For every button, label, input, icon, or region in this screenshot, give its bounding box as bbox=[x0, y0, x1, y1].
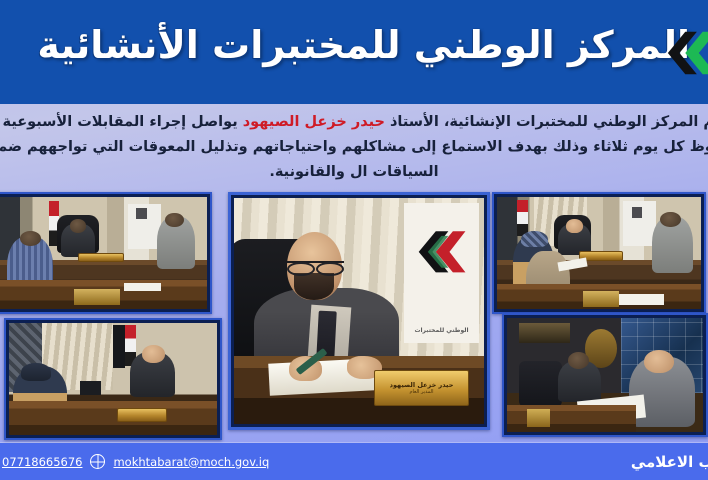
page-title: المركز الوطني للمختبرات الأنشائية bbox=[90, 22, 690, 70]
eyeglasses bbox=[287, 261, 345, 272]
iraqi-flag bbox=[517, 200, 527, 236]
email-address[interactable]: mokhtabarat@moch.gov.iq bbox=[113, 455, 269, 469]
phone-number[interactable]: 07718665676 bbox=[2, 455, 82, 469]
beard bbox=[294, 273, 334, 300]
desk-ornament bbox=[527, 409, 551, 427]
flag-caption: الوطني للمختبرات bbox=[407, 327, 476, 334]
nameplate bbox=[78, 253, 124, 262]
photo-center-main: الوطني للمختبرات حيدر خزعل الصيهود المدي… bbox=[228, 192, 490, 430]
footer-bar: 07718665676 mokhtabarat@moch.gov.iq المك… bbox=[0, 443, 708, 480]
moch-chevron-logo-icon bbox=[413, 214, 470, 290]
photo-center-scene: الوطني للمختبرات حيدر خزعل الصيهود المدي… bbox=[234, 198, 484, 424]
photo-bottom-left bbox=[4, 318, 222, 440]
announcement-line1-before: عام المركز الوطني للمختبرات الإنشائية، ا… bbox=[385, 114, 708, 130]
papers bbox=[619, 294, 664, 304]
papers bbox=[124, 283, 161, 291]
wall-decor bbox=[519, 323, 570, 344]
nameplate-name: حيدر خزعل الصيهود bbox=[390, 381, 454, 389]
media-office-label: المكتب الاعلامي bbox=[631, 453, 708, 471]
desk-phone bbox=[80, 381, 101, 394]
desk-ornament bbox=[583, 291, 620, 307]
head-scarf bbox=[21, 363, 50, 381]
institution-flag: الوطني للمختبرات bbox=[404, 203, 479, 343]
announcement-line3: والقانونية. bbox=[269, 164, 345, 180]
head bbox=[644, 350, 673, 373]
footer-contact-group: 07718665676 mokhtabarat@moch.gov.iq bbox=[0, 443, 269, 480]
head bbox=[566, 219, 582, 232]
head bbox=[142, 345, 165, 363]
flag-pole-shadow bbox=[113, 325, 125, 368]
desk bbox=[9, 401, 217, 435]
header-banner: المركز الوطني للمختبرات الأنشائية bbox=[0, 0, 708, 104]
head bbox=[660, 212, 680, 228]
wall-device bbox=[136, 208, 146, 219]
globe-icon[interactable] bbox=[90, 454, 105, 469]
announcement-text: عام المركز الوطني للمختبرات الإنشائية، ا… bbox=[0, 110, 708, 185]
head-scarf bbox=[521, 231, 548, 248]
photo-top-right bbox=[492, 192, 706, 314]
wall-device bbox=[632, 207, 642, 218]
photo-bottom-right bbox=[502, 313, 708, 437]
head bbox=[70, 219, 87, 232]
nameplate bbox=[117, 408, 167, 421]
sofa bbox=[519, 361, 562, 407]
poster-canvas: المركز الوطني للمختبرات الأنشائية عام ال… bbox=[0, 0, 708, 480]
moch-chevron-logo-icon bbox=[664, 24, 708, 82]
footer-office-group: المكتب الاعلامي bbox=[631, 443, 708, 480]
desk-ornament bbox=[74, 289, 120, 305]
announcement-highlight-name: حيدر خزعل الصيهود bbox=[243, 114, 385, 130]
desk-nameplate: حيدر خزعل الصيهود المدير العام bbox=[374, 370, 469, 406]
head bbox=[20, 231, 41, 247]
nameplate-title: المدير العام bbox=[409, 389, 433, 395]
photo-top-left bbox=[0, 192, 212, 314]
